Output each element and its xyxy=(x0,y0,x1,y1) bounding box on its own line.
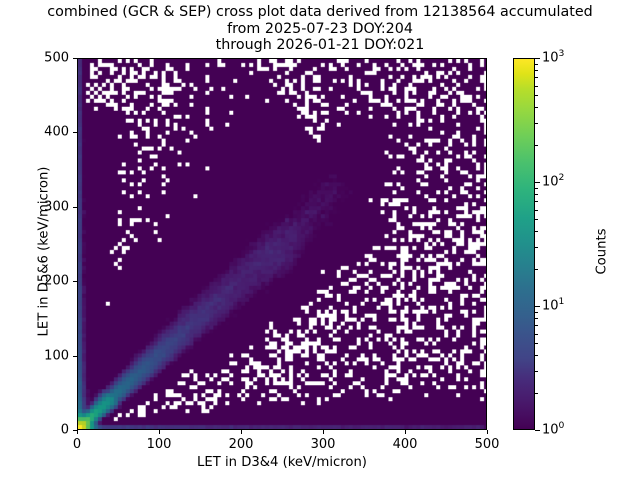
x-tick-200 xyxy=(241,430,242,434)
colorbar-tick-label-1e3: 103 xyxy=(542,51,564,66)
x-tick-label-200: 200 xyxy=(229,437,254,452)
colorbar-tick-1e0 xyxy=(535,430,540,431)
page-title: combined (GCR & SEP) cross plot data der… xyxy=(0,4,640,54)
figure-canvas: combined (GCR & SEP) cross plot data der… xyxy=(0,0,640,480)
colorbar-tick-1e3 xyxy=(535,58,540,59)
colorbar-minor-tick-200 xyxy=(535,145,538,146)
plot-area xyxy=(77,58,487,430)
y-axis-label: LET in D5&6 (keV/micron) xyxy=(37,142,52,362)
colorbar-minor-tick-300 xyxy=(535,123,538,124)
y-tick-label-500: 500 xyxy=(28,51,69,66)
scatter-density-plot xyxy=(78,59,486,429)
x-tick-label-400: 400 xyxy=(393,437,418,452)
x-tick-300 xyxy=(323,430,324,434)
title-line-2: from 2025-07-23 DOY:204 xyxy=(0,21,640,38)
colorbar-minor-tick-3 xyxy=(535,371,538,372)
colorbar-minor-tick-4 xyxy=(535,355,538,356)
y-tick-label-400: 400 xyxy=(28,125,69,140)
colorbar-minor-tick-900 xyxy=(535,64,538,65)
colorbar-tick-label-1e1: 101 xyxy=(542,299,564,314)
colorbar-minor-tick-2 xyxy=(535,393,538,394)
colorbar-minor-tick-50 xyxy=(535,219,538,220)
colorbar-label-mantissa-1: 10 xyxy=(542,299,559,314)
colorbar-minor-tick-70 xyxy=(535,201,538,202)
colorbar-minor-tick-20 xyxy=(535,269,538,270)
title-line-1: combined (GCR & SEP) cross plot data der… xyxy=(0,4,640,21)
colorbar-label-exponent-0: 0 xyxy=(559,420,565,431)
y-tick-100 xyxy=(73,356,77,357)
colorbar-minor-tick-40 xyxy=(535,231,538,232)
colorbar-label-mantissa-3: 10 xyxy=(542,51,559,66)
x-tick-label-100: 100 xyxy=(147,437,172,452)
y-tick-500 xyxy=(73,58,77,59)
colorbar-minor-tick-8 xyxy=(535,318,538,319)
colorbar-minor-tick-9 xyxy=(535,312,538,313)
colorbar-label: Counts xyxy=(595,172,610,332)
colorbar-label-exponent-1: 1 xyxy=(559,296,565,307)
colorbar-minor-tick-500 xyxy=(535,95,538,96)
colorbar-label-exponent-3: 3 xyxy=(559,48,565,59)
colorbar-minor-tick-400 xyxy=(535,107,538,108)
x-tick-100 xyxy=(159,430,160,434)
colorbar-tick-1e1 xyxy=(535,306,540,307)
colorbar-minor-tick-800 xyxy=(535,70,538,71)
y-tick-400 xyxy=(73,132,77,133)
colorbar-minor-tick-5 xyxy=(535,343,538,344)
colorbar-tick-label-1e0: 100 xyxy=(542,423,564,438)
colorbar-minor-tick-60 xyxy=(535,210,538,211)
colorbar-minor-tick-90 xyxy=(535,188,538,189)
x-tick-0 xyxy=(77,430,78,434)
colorbar-minor-tick-600 xyxy=(535,86,538,87)
x-tick-label-0: 0 xyxy=(73,437,81,452)
colorbar-tick-label-1e2: 102 xyxy=(542,175,564,190)
y-tick-300 xyxy=(73,207,77,208)
y-tick-200 xyxy=(73,281,77,282)
colorbar-label-mantissa-0: 10 xyxy=(542,423,559,438)
colorbar-tick-1e2 xyxy=(535,182,540,183)
colorbar-label-mantissa-2: 10 xyxy=(542,175,559,190)
colorbar-minor-tick-700 xyxy=(535,77,538,78)
colorbar-label-exponent-2: 2 xyxy=(559,172,565,183)
colorbar-minor-tick-7 xyxy=(535,325,538,326)
colorbar-minor-tick-80 xyxy=(535,194,538,195)
colorbar-minor-tick-30 xyxy=(535,247,538,248)
x-tick-label-500: 500 xyxy=(475,437,500,452)
x-tick-400 xyxy=(405,430,406,434)
colorbar-minor-tick-6 xyxy=(535,334,538,335)
y-tick-0 xyxy=(73,430,77,431)
y-tick-label-0: 0 xyxy=(28,423,69,438)
colorbar xyxy=(513,58,535,430)
x-tick-label-300: 300 xyxy=(311,437,336,452)
x-tick-500 xyxy=(487,430,488,434)
x-axis-label: LET in D3&4 (keV/micron) xyxy=(77,455,487,470)
